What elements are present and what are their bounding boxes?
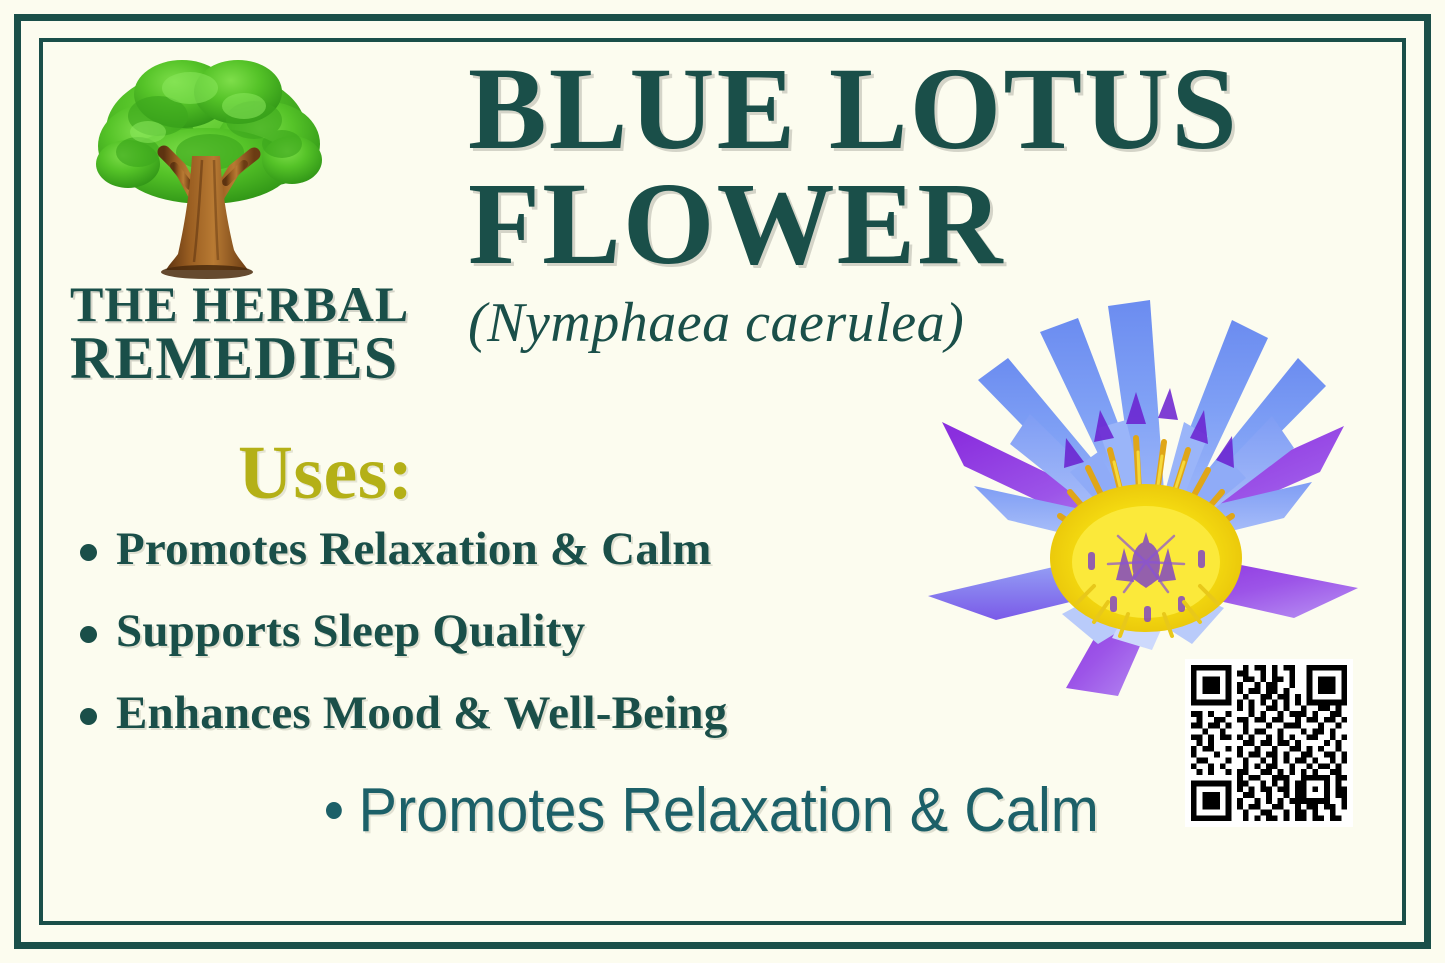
list-item: Enhances Mood & Well-Being xyxy=(72,686,902,740)
bullet-icon xyxy=(80,544,97,561)
list-item-label: Supports Sleep Quality xyxy=(116,605,585,657)
list-item: Supports Sleep Quality xyxy=(72,604,902,658)
product-label: BLUE LOTUS FLOWER (Nymphaea caerulea) TH… xyxy=(0,0,1445,963)
uses-list: Promotes Relaxation & Calm Supports Slee… xyxy=(72,522,902,768)
brand-line-1: THE HERBAL xyxy=(70,281,490,327)
bullet-icon xyxy=(80,626,97,643)
brand-name: THE HERBAL REMEDIES xyxy=(70,281,490,386)
blue-lotus-flower-image xyxy=(912,296,1372,696)
list-item-label: Enhances Mood & Well-Being xyxy=(116,687,727,739)
footer-highlight: Promotes Relaxation & Calm xyxy=(326,775,1099,846)
list-item: Promotes Relaxation & Calm xyxy=(72,522,902,576)
uses-heading: Uses: xyxy=(238,430,414,517)
title-line-2: FLOWER xyxy=(468,167,1328,280)
qr-code-image[interactable] xyxy=(1185,659,1353,827)
bullet-icon xyxy=(326,802,342,819)
title-line-1: BLUE LOTUS xyxy=(468,52,1328,165)
footer-label: Promotes Relaxation & Calm xyxy=(359,776,1099,845)
tree-icon xyxy=(86,48,328,286)
brand-line-2: REMEDIES xyxy=(70,331,490,386)
bullet-icon xyxy=(80,708,97,725)
list-item-label: Promotes Relaxation & Calm xyxy=(116,523,712,575)
